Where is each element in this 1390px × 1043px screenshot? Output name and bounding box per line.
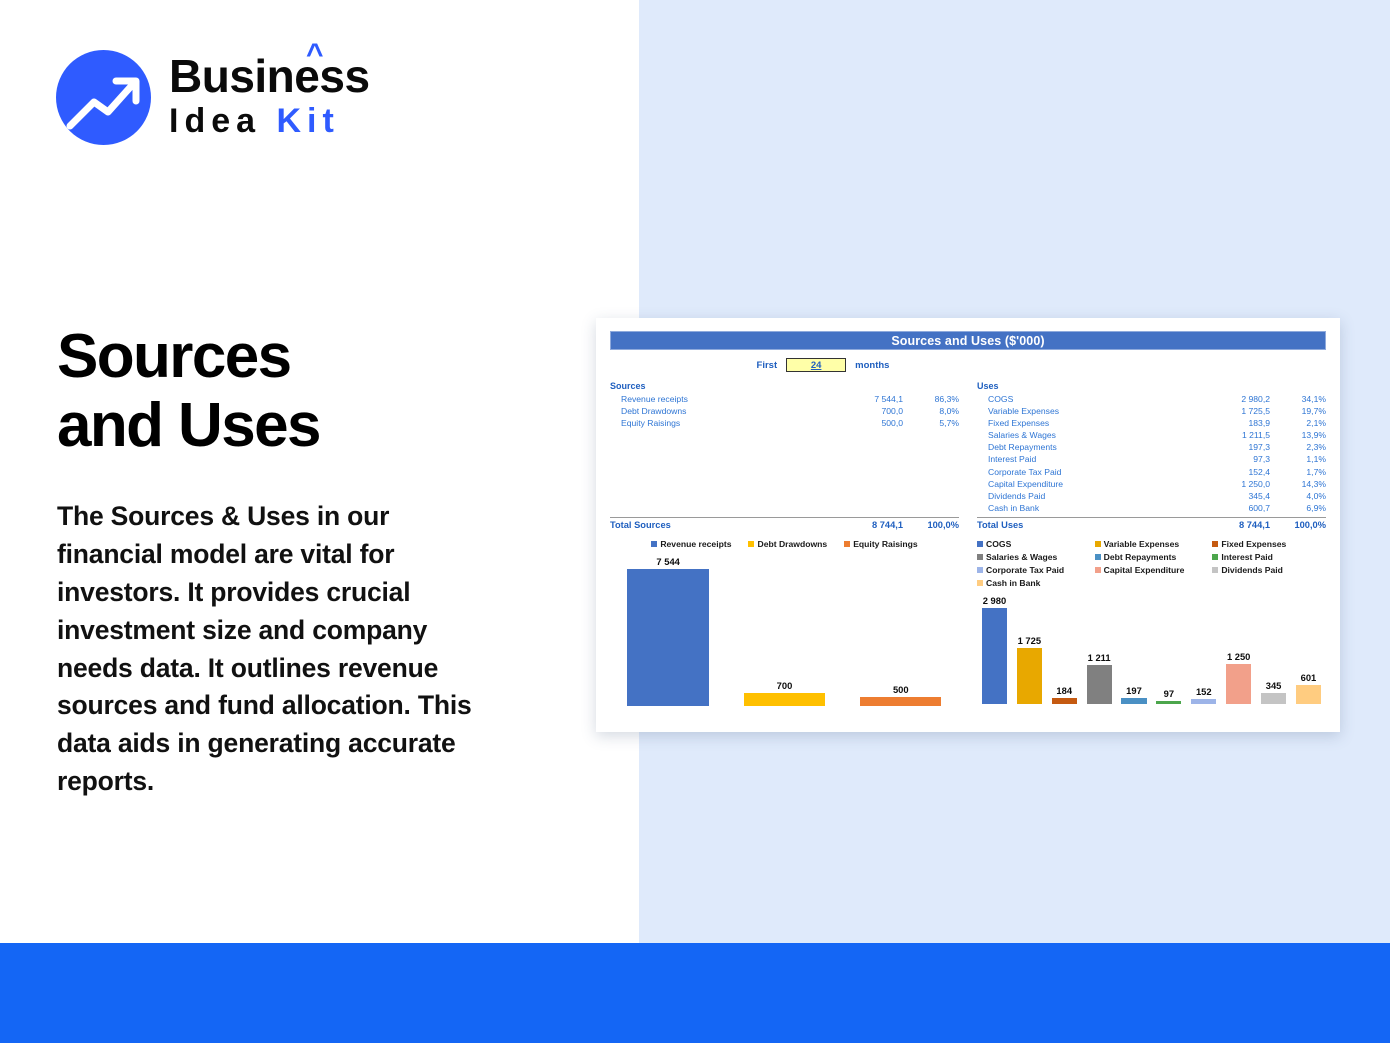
table-row: Interest Paid97,31,1% [977, 453, 1326, 465]
row-label: Interest Paid [977, 453, 1198, 465]
sources-chart-bars: 7 544700500 [610, 556, 959, 706]
brand-name-text: Business [169, 50, 370, 102]
legend-swatch-icon [1212, 541, 1218, 547]
bar-value-label: 1 250 [1227, 651, 1250, 662]
legend-label: Capital Expenditure [1104, 565, 1185, 575]
row-percent: 4,0% [1270, 490, 1326, 502]
legend-label: Debt Drawdowns [757, 539, 827, 549]
legend-label: Variable Expenses [1104, 539, 1179, 549]
sources-chart: Revenue receiptsDebt DrawdownsEquity Rai… [610, 539, 959, 706]
summary-tables: Sources Revenue receipts7 544,186,3%Debt… [610, 381, 1326, 532]
legend-label: Salaries & Wages [986, 552, 1057, 562]
row-label: Cash in Bank [977, 502, 1198, 514]
row-label: Capital Expenditure [977, 478, 1198, 490]
legend-swatch-icon [1095, 554, 1101, 560]
bar-group: 2 980 [977, 594, 1012, 704]
row-label: Equity Raisings [610, 417, 831, 429]
bar-group: 197 [1117, 594, 1152, 704]
row-percent: 34,1% [1270, 393, 1326, 405]
legend-swatch-icon [977, 541, 983, 547]
brand-name-kit: Kit [277, 102, 340, 140]
row-value: 500,0 [831, 417, 903, 429]
table-row: Variable Expenses1 725,519,7% [977, 405, 1326, 417]
row-value: 700,0 [831, 405, 903, 417]
bar[interactable] [1052, 698, 1077, 704]
bar-value-label: 184 [1056, 685, 1072, 696]
bar[interactable] [860, 697, 941, 706]
bar-value-label: 345 [1266, 680, 1282, 691]
sources-table: Sources Revenue receipts7 544,186,3%Debt… [610, 381, 959, 532]
legend-label: Revenue receipts [660, 539, 731, 549]
bar[interactable] [1087, 665, 1112, 704]
table-row: Corporate Tax Paid152,41,7% [977, 466, 1326, 478]
legend-label: Interest Paid [1221, 552, 1273, 562]
row-label: Variable Expenses [977, 405, 1198, 417]
legend-label: Cash in Bank [986, 578, 1040, 588]
bar-value-label: 700 [777, 680, 793, 691]
bar-value-label: 152 [1196, 686, 1212, 697]
legend-item[interactable]: Variable Expenses [1095, 539, 1209, 549]
legend-swatch-icon [1095, 567, 1101, 573]
legend-item[interactable]: Revenue receipts [651, 539, 731, 549]
sources-rows: Revenue receipts7 544,186,3%Debt Drawdow… [610, 393, 959, 429]
row-label: Dividends Paid [977, 490, 1198, 502]
bar[interactable] [1121, 698, 1146, 704]
bar[interactable] [744, 693, 825, 706]
legend-item[interactable]: Capital Expenditure [1095, 565, 1209, 575]
row-label: COGS [977, 393, 1198, 405]
bar-group: 601 [1291, 594, 1326, 704]
table-row: Debt Repayments197,32,3% [977, 441, 1326, 453]
bar-value-label: 97 [1164, 688, 1174, 699]
legend-item[interactable]: Cash in Bank [977, 578, 1091, 588]
legend-label: Debt Repayments [1104, 552, 1177, 562]
table-row: Revenue receipts7 544,186,3% [610, 393, 959, 405]
page-title: Sources and Uses [57, 322, 320, 461]
brand-name-idea: Idea [169, 102, 261, 140]
legend-swatch-icon [977, 567, 983, 573]
bar-group: 345 [1256, 594, 1291, 704]
legend-label: COGS [986, 539, 1011, 549]
uses-table: Uses COGS2 980,234,1%Variable Expenses1 … [977, 381, 1326, 532]
legend-item[interactable]: Dividends Paid [1212, 565, 1326, 575]
period-prefix-label: First [757, 360, 778, 371]
row-value: 183,9 [1198, 417, 1270, 429]
sources-total-pct: 100,0% [903, 518, 959, 532]
bar-value-label: 7 544 [656, 556, 679, 567]
sources-total-row: Total Sources 8 744,1 100,0% [610, 518, 959, 532]
bar[interactable] [1156, 701, 1181, 704]
uses-rows: COGS2 980,234,1%Variable Expenses1 725,5… [977, 393, 1326, 514]
row-value: 2 980,2 [1198, 393, 1270, 405]
row-percent: 2,3% [1270, 441, 1326, 453]
row-label: Debt Repayments [977, 441, 1198, 453]
bar-group: 184 [1047, 594, 1082, 704]
row-percent: 1,7% [1270, 466, 1326, 478]
bar[interactable] [982, 608, 1007, 704]
legend-item[interactable]: Corporate Tax Paid [977, 565, 1091, 575]
legend-item[interactable]: Interest Paid [1212, 552, 1326, 562]
charts-area: Revenue receiptsDebt DrawdownsEquity Rai… [610, 539, 1326, 706]
table-row: Cash in Bank600,76,9% [977, 502, 1326, 514]
table-row: Equity Raisings500,05,7% [610, 417, 959, 429]
bar-value-label: 2 980 [983, 595, 1006, 606]
row-percent: 5,7% [903, 417, 959, 429]
sources-chart-legend: Revenue receiptsDebt DrawdownsEquity Rai… [610, 539, 959, 549]
period-control: First 24 months [596, 358, 1340, 372]
table-row: Dividends Paid345,44,0% [977, 490, 1326, 502]
row-percent: 14,3% [1270, 478, 1326, 490]
row-percent: 13,9% [1270, 429, 1326, 441]
bar-group: 1 211 [1082, 594, 1117, 704]
row-value: 1 725,5 [1198, 405, 1270, 417]
brand-logo: Business ^ Idea Kit [56, 50, 370, 145]
bar[interactable] [1191, 699, 1216, 704]
uses-chart-plot: 2 9801 7251841 211197971521 250345601 [977, 594, 1326, 704]
row-percent: 19,7% [1270, 405, 1326, 417]
legend-label: Equity Raisings [853, 539, 917, 549]
uses-chart: COGSVariable ExpensesFixed ExpensesSalar… [977, 539, 1326, 706]
period-suffix-label: months [855, 360, 889, 371]
table-row: Salaries & Wages1 211,513,9% [977, 429, 1326, 441]
row-percent: 8,0% [903, 405, 959, 417]
uses-total-row: Total Uses 8 744,1 100,0% [977, 518, 1326, 532]
bar[interactable] [1296, 685, 1321, 704]
sources-chart-plot: 7 544700500 [610, 556, 959, 706]
row-label: Debt Drawdowns [610, 405, 831, 417]
legend-label: Dividends Paid [1221, 565, 1283, 575]
bar-value-label: 1 211 [1088, 652, 1111, 663]
circumflex-accent-icon: ^ [306, 40, 323, 70]
months-input[interactable]: 24 [786, 358, 846, 372]
bar-group: 7 544 [610, 556, 726, 706]
table-row: Fixed Expenses183,92,1% [977, 417, 1326, 429]
bar[interactable] [627, 569, 708, 706]
sheet-title-bar: Sources and Uses ($'000) [610, 331, 1326, 350]
row-value: 152,4 [1198, 466, 1270, 478]
bar-group: 500 [843, 556, 959, 706]
row-value: 97,3 [1198, 453, 1270, 465]
row-value: 1 211,5 [1198, 429, 1270, 441]
sources-total-value: 8 744,1 [831, 518, 903, 532]
legend-item[interactable]: Salaries & Wages [977, 552, 1091, 562]
row-label: Salaries & Wages [977, 429, 1198, 441]
legend-swatch-icon [844, 541, 850, 547]
legend-label: Fixed Expenses [1221, 539, 1286, 549]
table-row: Debt Drawdowns700,08,0% [610, 405, 959, 417]
row-value: 197,3 [1198, 441, 1270, 453]
row-percent: 1,1% [1270, 453, 1326, 465]
sources-table-spacer [610, 429, 959, 514]
uses-total-pct: 100,0% [1270, 518, 1326, 532]
legend-swatch-icon [977, 554, 983, 560]
brand-name-line1: Business ^ [169, 53, 370, 99]
legend-item[interactable]: COGS [977, 539, 1091, 549]
bar[interactable] [1261, 693, 1286, 704]
legend-swatch-icon [1212, 554, 1218, 560]
uses-table-header: Uses [977, 381, 1326, 391]
bar-value-label: 500 [893, 684, 909, 695]
page-description: The Sources & Uses in our financial mode… [57, 498, 502, 801]
legend-label: Corporate Tax Paid [986, 565, 1064, 575]
legend-swatch-icon [748, 541, 754, 547]
bar[interactable] [1017, 648, 1042, 704]
bar-group: 700 [726, 556, 842, 706]
uses-total-label: Total Uses [977, 518, 1198, 532]
legend-swatch-icon [651, 541, 657, 547]
bar-value-label: 197 [1126, 685, 1142, 696]
bar-group: 1 250 [1221, 594, 1256, 704]
row-percent: 86,3% [903, 393, 959, 405]
uses-chart-bars: 2 9801 7251841 211197971521 250345601 [977, 594, 1326, 704]
row-value: 7 544,1 [831, 393, 903, 405]
bar-group: 97 [1151, 594, 1186, 704]
sources-and-uses-card: Sources and Uses ($'000) First 24 months… [596, 318, 1340, 732]
row-label: Corporate Tax Paid [977, 466, 1198, 478]
bar-value-label: 1 725 [1018, 635, 1041, 646]
legend-item[interactable]: Fixed Expenses [1212, 539, 1326, 549]
row-value: 1 250,0 [1198, 478, 1270, 490]
footer-bar [0, 943, 1390, 1043]
row-label: Fixed Expenses [977, 417, 1198, 429]
sources-total-label: Total Sources [610, 518, 831, 532]
row-value: 600,7 [1198, 502, 1270, 514]
legend-item[interactable]: Debt Drawdowns [748, 539, 827, 549]
table-row: Capital Expenditure1 250,014,3% [977, 478, 1326, 490]
bar[interactable] [1226, 664, 1251, 704]
legend-item[interactable]: Debt Repayments [1095, 552, 1209, 562]
legend-swatch-icon [977, 580, 983, 586]
row-value: 345,4 [1198, 490, 1270, 502]
sources-table-header: Sources [610, 381, 959, 391]
bar-group: 1 725 [1012, 594, 1047, 704]
bar-value-label: 601 [1301, 672, 1317, 683]
uses-total-value: 8 744,1 [1198, 518, 1270, 532]
bar-group: 152 [1186, 594, 1221, 704]
legend-swatch-icon [1095, 541, 1101, 547]
row-percent: 2,1% [1270, 417, 1326, 429]
legend-swatch-icon [1212, 567, 1218, 573]
row-label: Revenue receipts [610, 393, 831, 405]
table-row: COGS2 980,234,1% [977, 393, 1326, 405]
uses-chart-legend: COGSVariable ExpensesFixed ExpensesSalar… [977, 539, 1326, 588]
row-percent: 6,9% [1270, 502, 1326, 514]
brand-name-line2: Idea Kit [169, 102, 370, 141]
legend-item[interactable]: Equity Raisings [844, 539, 917, 549]
growth-chart-icon [56, 50, 151, 145]
brand-wordmark: Business ^ Idea Kit [169, 53, 370, 141]
